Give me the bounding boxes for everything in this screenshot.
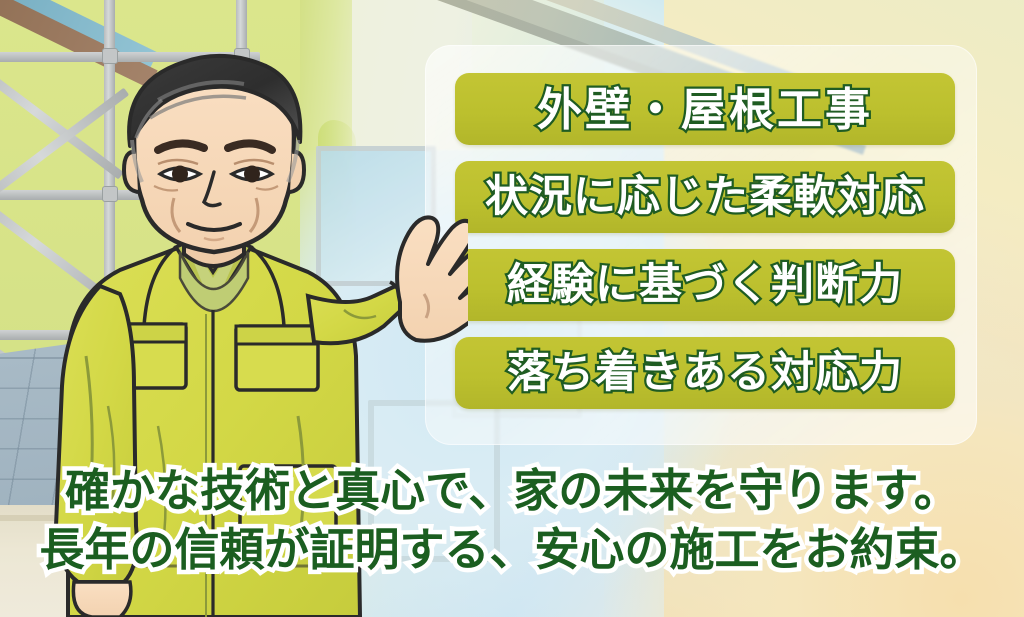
banner-image: 外壁・屋根工事 状況に応じた柔軟対応 経験に基づく判断力 落ち着きある対応力	[0, 0, 1024, 617]
caption-line-2: 長年の信頼が証明する、安心の施工をお約束。	[0, 521, 1024, 580]
badge-feature-2[interactable]: 経験に基づく判断力	[455, 249, 955, 321]
head	[124, 56, 304, 252]
badge-title[interactable]: 外壁・屋根工事	[455, 73, 955, 145]
badge-list: 外壁・屋根工事 状況に応じた柔軟対応 経験に基づく判断力 落ち着きある対応力	[455, 73, 955, 409]
badge-feature-1-label: 状況に応じた柔軟対応	[485, 176, 925, 219]
badge-feature-3[interactable]: 落ち着きある対応力	[455, 337, 955, 409]
badge-feature-3-label: 落ち着きある対応力	[507, 352, 903, 395]
caption-line-1: 確かな技術と真心で、家の未来を守ります。	[0, 462, 1024, 521]
badge-feature-1[interactable]: 状況に応じた柔軟対応	[455, 161, 955, 233]
badge-title-label: 外壁・屋根工事	[537, 87, 873, 132]
badge-feature-2-label: 経験に基づく判断力	[507, 264, 903, 307]
open-palm-hand	[397, 217, 468, 340]
caption-block: 確かな技術と真心で、家の未来を守ります。 長年の信頼が証明する、安心の施工をお約…	[0, 462, 1024, 579]
